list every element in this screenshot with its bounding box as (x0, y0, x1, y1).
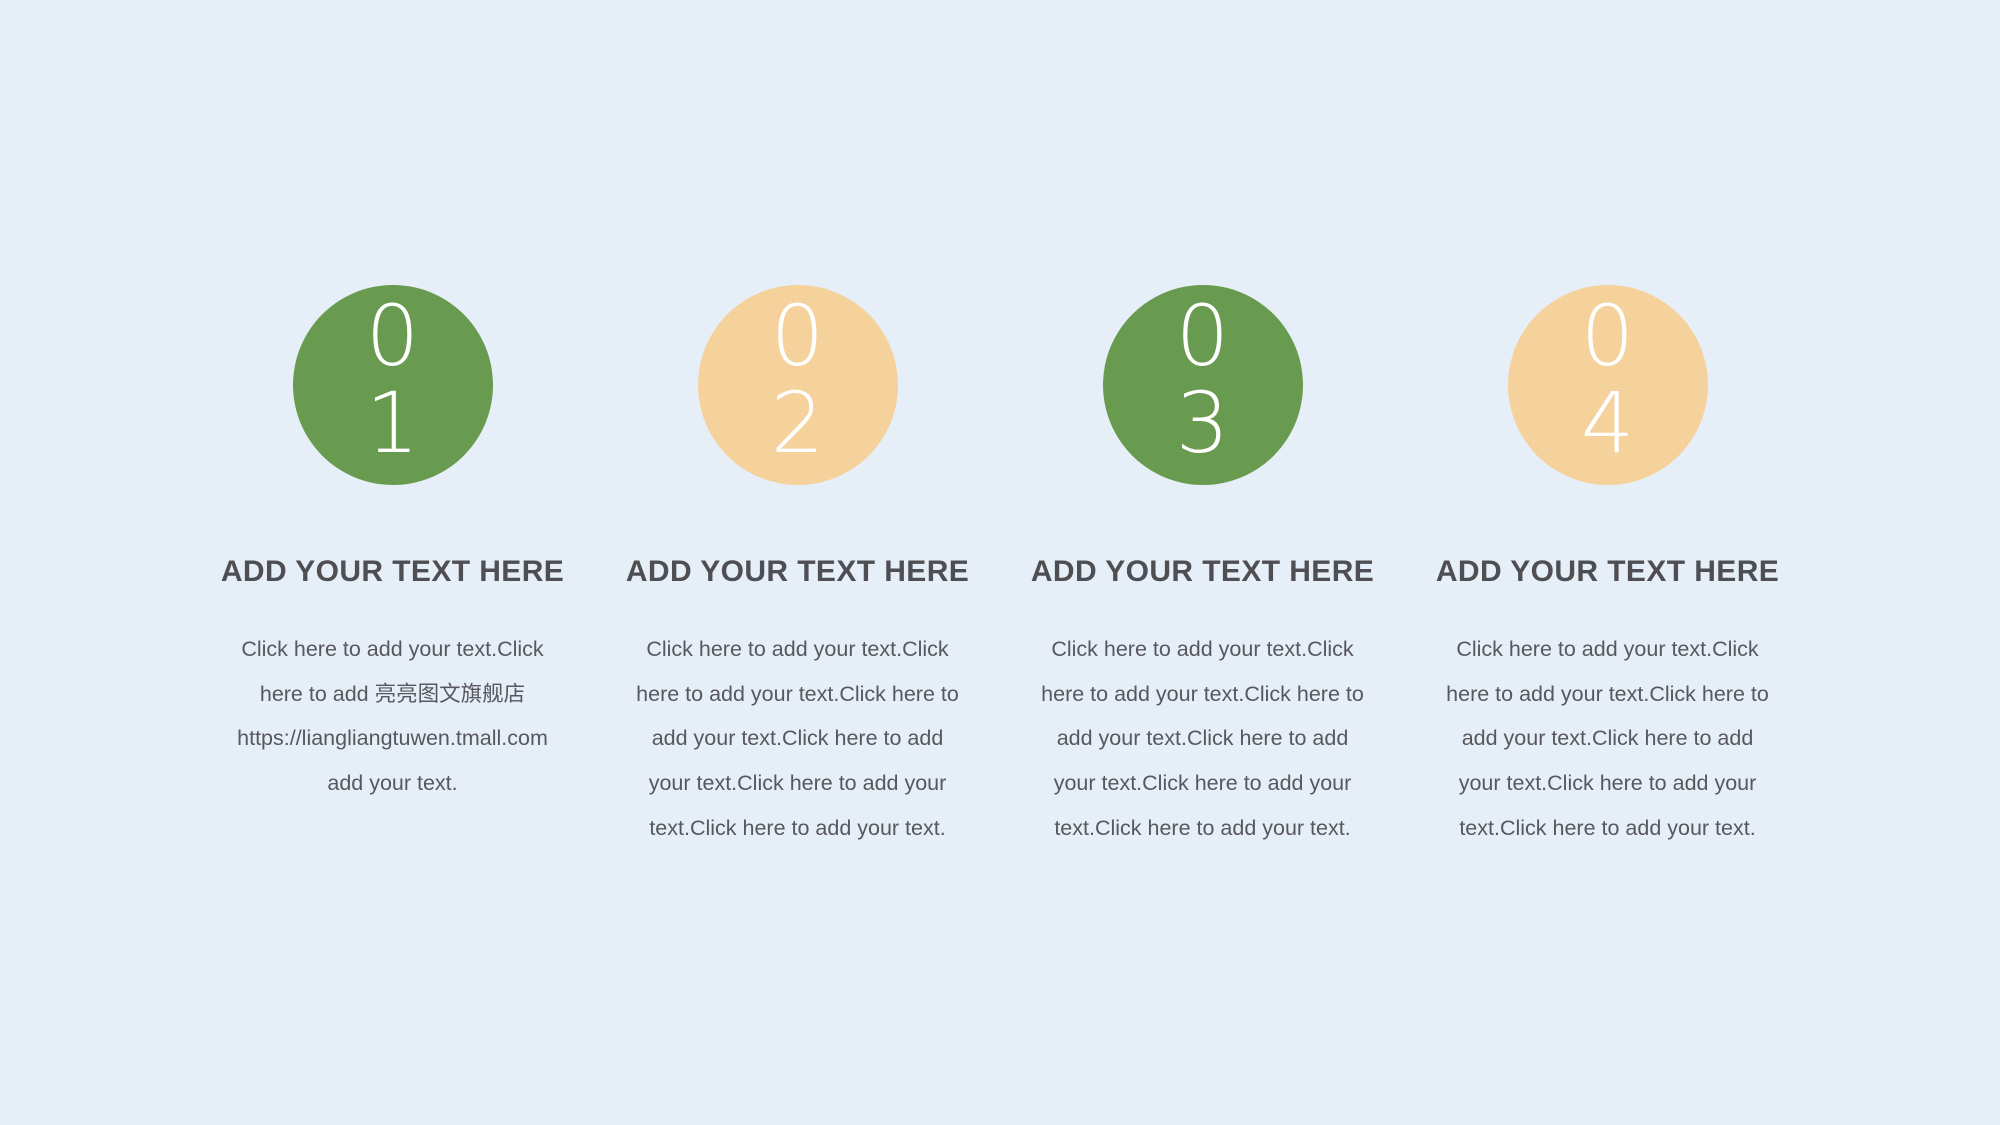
column-heading: ADD YOUR TEXT HERE (221, 555, 564, 589)
column-item[interactable]: 01 ADD YOUR TEXT HERE Click here to add … (190, 285, 595, 806)
column-body-text: Click here to add your text.Click here t… (228, 627, 558, 806)
column-heading: ADD YOUR TEXT HERE (1031, 555, 1374, 589)
column-heading: ADD YOUR TEXT HERE (626, 555, 969, 589)
column-body-text: Click here to add your text.Click here t… (1038, 627, 1368, 851)
badge-circle-shape (293, 285, 493, 485)
number-badge[interactable]: 04 (1508, 285, 1708, 485)
badge-circle-shape (1103, 285, 1303, 485)
badge-circle-shape (1508, 285, 1708, 485)
badge-circle-shape (698, 285, 898, 485)
column-item[interactable]: 02 ADD YOUR TEXT HERE Click here to add … (595, 285, 1000, 851)
number-badge[interactable]: 02 (698, 285, 898, 485)
number-badge[interactable]: 01 (293, 285, 493, 485)
column-item[interactable]: 04 ADD YOUR TEXT HERE Click here to add … (1405, 285, 1810, 851)
number-badge[interactable]: 03 (1103, 285, 1303, 485)
column-item[interactable]: 03 ADD YOUR TEXT HERE Click here to add … (1000, 285, 1405, 851)
column-body-text: Click here to add your text.Click here t… (633, 627, 963, 851)
column-heading: ADD YOUR TEXT HERE (1436, 555, 1779, 589)
column-list: 01 ADD YOUR TEXT HERE Click here to add … (0, 0, 2000, 1125)
column-body-text: Click here to add your text.Click here t… (1443, 627, 1773, 851)
slide-canvas: 01 ADD YOUR TEXT HERE Click here to add … (0, 0, 2000, 1125)
